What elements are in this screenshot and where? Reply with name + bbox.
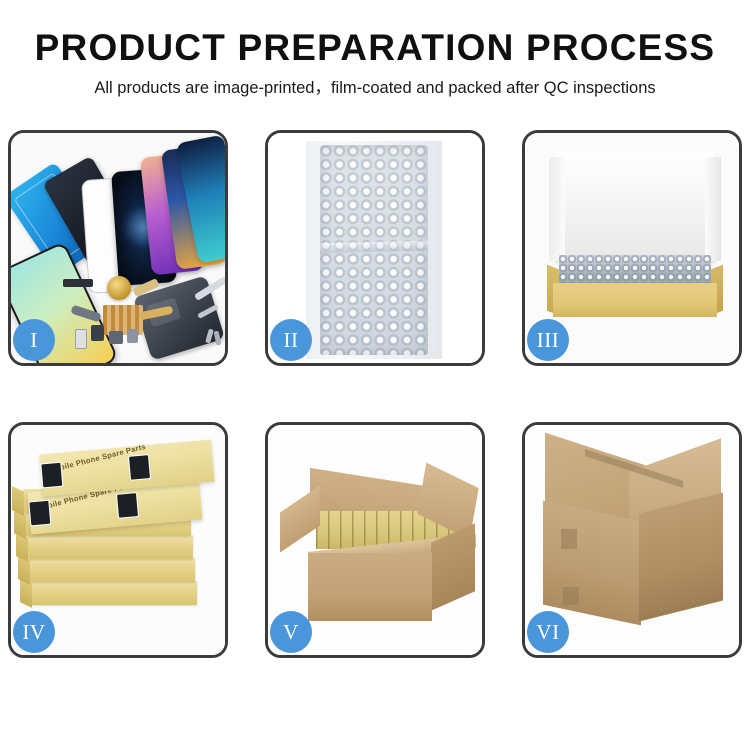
step-badge-1: I bbox=[13, 319, 55, 361]
bubble-wrapped-contents bbox=[559, 255, 711, 285]
small-component-4 bbox=[75, 329, 87, 349]
stacked-box bbox=[27, 535, 193, 559]
process-step-panel-5[interactable]: V bbox=[265, 422, 485, 658]
speaker-coil-part bbox=[107, 276, 131, 300]
lid-flap-left bbox=[549, 157, 565, 261]
page-header: PRODUCT PREPARATION PROCESS All products… bbox=[0, 0, 750, 99]
box-screen-graphic bbox=[40, 462, 63, 489]
process-step-panel-2[interactable]: II bbox=[265, 130, 485, 366]
box-screen-graphic bbox=[116, 492, 139, 519]
lid-flap-right bbox=[705, 157, 721, 261]
kraft-box-front bbox=[553, 283, 717, 317]
box-spec-text-lines bbox=[150, 487, 194, 515]
box-screen-graphic bbox=[128, 454, 151, 481]
process-step-panel-3[interactable]: III bbox=[522, 130, 742, 366]
small-component-2 bbox=[109, 331, 123, 344]
step-badge-2: II bbox=[270, 319, 312, 361]
carton-tape-mark-top bbox=[561, 529, 577, 549]
white-lid-panel bbox=[555, 151, 715, 263]
carton-front-face bbox=[543, 501, 641, 626]
carton-side-face bbox=[639, 493, 723, 622]
page-subtitle: All products are image-printed，film-coat… bbox=[0, 77, 750, 99]
box-screen-graphic bbox=[28, 500, 51, 527]
bubble-wrap-texture bbox=[320, 145, 428, 355]
small-component-1 bbox=[91, 325, 104, 341]
stacked-box bbox=[29, 558, 195, 582]
stacked-box bbox=[31, 581, 197, 605]
process-step-panel-4[interactable]: Mobile Phone Spare Parts Mobile Phone Sp… bbox=[8, 422, 228, 658]
box-spec-text-lines bbox=[162, 449, 206, 477]
step-badge-5: V bbox=[270, 611, 312, 653]
earpiece-mesh-part bbox=[63, 279, 93, 287]
process-step-panel-1[interactable]: I bbox=[8, 130, 228, 366]
process-step-panel-6[interactable]: VI bbox=[522, 422, 742, 658]
small-component-3 bbox=[127, 329, 138, 343]
step-badge-4: IV bbox=[13, 611, 55, 653]
process-steps-grid: I II III bbox=[8, 130, 742, 658]
step-badge-6: VI bbox=[527, 611, 569, 653]
carton-tape-mark-bottom bbox=[563, 587, 579, 605]
carton-front bbox=[308, 553, 432, 621]
page-title: PRODUCT PREPARATION PROCESS bbox=[0, 26, 750, 70]
step-badge-3: III bbox=[527, 319, 569, 361]
